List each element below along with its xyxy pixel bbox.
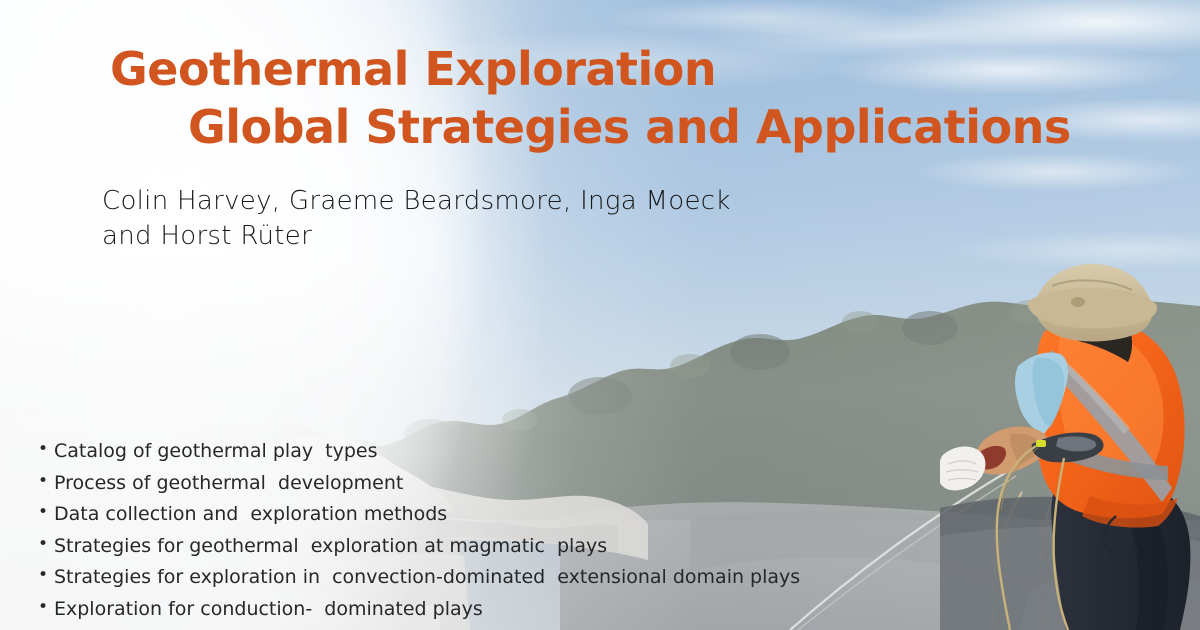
poster-title-line-1: Geothermal Exploration bbox=[110, 46, 716, 92]
author-list: Colin Harvey, Graeme Beardsmore, Inga Mo… bbox=[102, 184, 982, 253]
bullet-item: Process of geothermal development bbox=[38, 474, 1098, 493]
bullet-item: Strategies for geothermal exploration at… bbox=[38, 537, 1098, 556]
text-layer: Geothermal Exploration Global Strategies… bbox=[0, 0, 1200, 630]
bullet-item: Exploration for conduction- dominated pl… bbox=[38, 600, 1098, 619]
bullet-item: Data collection and exploration methods bbox=[38, 505, 1098, 524]
bullet-item: Strategies for exploration in convection… bbox=[38, 568, 1098, 587]
bullet-item: Catalog of geothermal play types bbox=[38, 442, 1098, 461]
poster-canvas: Geothermal Exploration Global Strategies… bbox=[0, 0, 1200, 630]
poster-title-line-2: Global Strategies and Applications bbox=[188, 104, 1071, 150]
topic-bullet-list: Catalog of geothermal play types Process… bbox=[38, 442, 1098, 630]
